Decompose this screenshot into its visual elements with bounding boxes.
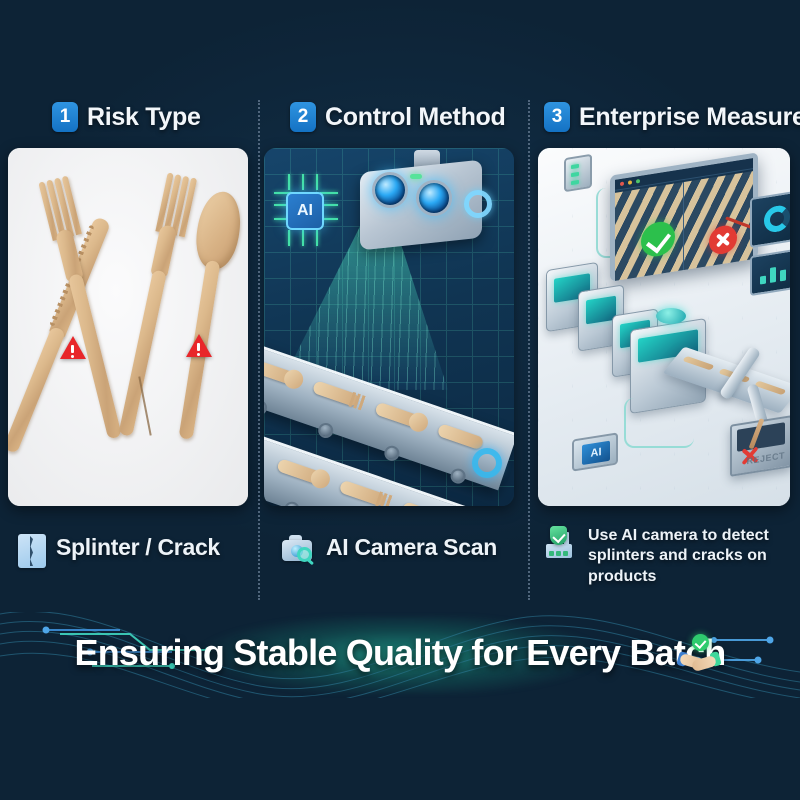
monitor-pass-feed — [615, 182, 684, 281]
ai-controller-label: AI — [582, 441, 610, 465]
ai-camera-conveyor-illustration: AI — [264, 148, 514, 506]
gear-icon — [464, 190, 492, 218]
indicator-dome — [656, 308, 686, 324]
step-badge-3: 3 — [544, 102, 570, 132]
column-2-title: Control Method — [325, 103, 505, 132]
caption-3-text: Use AI camera to detect splinters and cr… — [588, 526, 784, 587]
camera-scan-icon — [282, 534, 316, 564]
bar-gauge — [760, 257, 790, 285]
donut-gauge — [764, 204, 790, 234]
stats-panel-donut — [750, 190, 790, 248]
step-badge-1: 1 — [52, 102, 78, 132]
caption-enterprise-measure: Use AI camera to detect splinters and cr… — [528, 524, 800, 610]
factory-line-illustration: REJECT AI — [538, 148, 790, 506]
reject-bin: REJECT — [730, 415, 790, 477]
caption-1-text: Splinter / Crack — [56, 534, 220, 561]
stats-panel-bars — [750, 248, 790, 296]
caption-risk-type: Splinter / Crack — [0, 524, 258, 610]
crack-icon — [18, 534, 46, 568]
warning-triangle-icon — [186, 334, 212, 358]
column-3-header: 3 Enterprise Measure — [528, 96, 800, 138]
monitor-fail-feed — [684, 171, 753, 270]
caption-control-method: AI Camera Scan — [258, 524, 528, 610]
enterprise-measure-image-card: REJECT AI — [538, 148, 790, 506]
caption-row: Splinter / Crack AI Camera Scan Use AI c… — [0, 524, 800, 610]
gear-icon — [472, 448, 502, 478]
risk-type-image-card — [8, 148, 248, 506]
control-method-image-card: AI — [264, 148, 514, 506]
wooden-cutlery-illustration — [8, 148, 248, 506]
ai-chip-icon: AI — [286, 192, 324, 230]
step-badge-2: 2 — [290, 102, 316, 132]
factory-shield-icon — [544, 526, 578, 560]
infographic-stage: 1 Risk Type — [0, 0, 800, 800]
pass-check-icon — [641, 219, 675, 258]
caption-2-text: AI Camera Scan — [326, 534, 497, 561]
camera-lens — [416, 180, 452, 216]
cable — [624, 398, 694, 448]
sensor-unit — [564, 154, 592, 192]
bottom-banner: Ensuring Stable Quality for Every Batch — [0, 612, 800, 698]
fail-cross-icon — [709, 224, 737, 256]
column-2-header: 2 Control Method — [258, 96, 528, 138]
camera-status-led — [410, 174, 422, 179]
warning-triangle-icon — [60, 336, 86, 360]
column-1-header: 1 Risk Type — [0, 96, 258, 138]
column-1-title: Risk Type — [87, 103, 201, 132]
handshake-check-icon — [678, 634, 720, 678]
column-3-title: Enterprise Measure — [579, 103, 800, 132]
camera-lens — [372, 172, 408, 208]
